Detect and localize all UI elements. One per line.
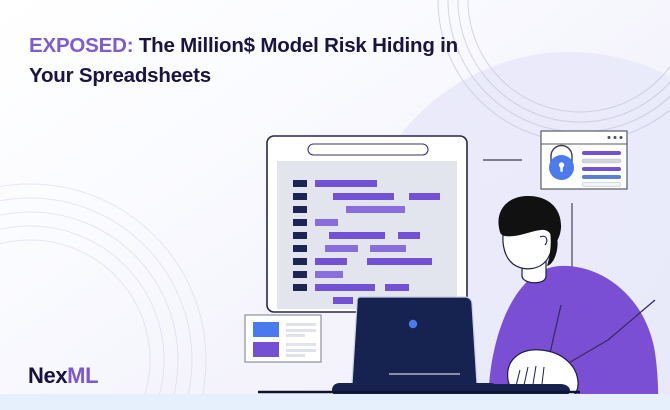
logo-part-one: Nex	[28, 363, 67, 388]
logo-part-two: ML	[67, 363, 98, 388]
laptop-lid	[352, 297, 477, 384]
laptop-logo-dot	[409, 320, 417, 328]
page-title: EXPOSED: The Million$ Model Risk Hiding …	[29, 31, 459, 90]
window-dots-icon	[608, 136, 623, 139]
list-card-thumb-1	[253, 322, 279, 337]
headline-keyword: EXPOSED:	[29, 34, 133, 57]
data-list-card[interactable]	[245, 315, 321, 362]
security-lock-card[interactable]	[541, 131, 627, 189]
brand-logo[interactable]: NexML	[28, 363, 98, 389]
promo-banner: EXPOSED: The Million$ Model Risk Hiding …	[0, 0, 670, 410]
list-card-thumb-2	[253, 342, 279, 357]
monitor[interactable]	[267, 136, 467, 312]
person-figure	[488, 196, 658, 410]
bottom-band	[0, 394, 670, 410]
monitor-address-bar[interactable]	[308, 144, 428, 155]
